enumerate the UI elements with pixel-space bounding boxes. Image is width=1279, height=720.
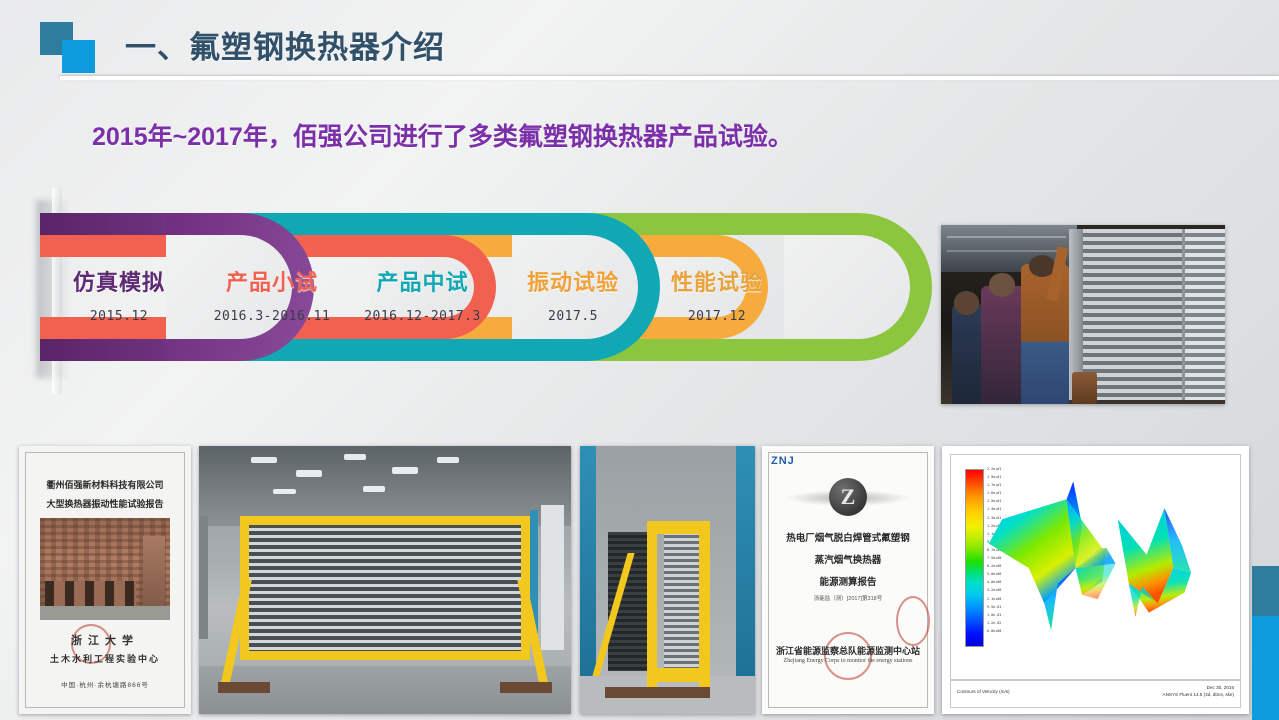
accent-bar-bottom (1252, 616, 1279, 720)
cfd-footer-app: ANSYS Fluent 14.5 (3d, dbns, ske) (1163, 691, 1235, 698)
process-stage-1-date: 2015.12 (54, 309, 184, 324)
process-stage-4-name: 振动试验 (498, 265, 648, 297)
photo-report-vibration: 衢州佰强新材料科技有限公司 大型换热器振动性能试验报告 浙江大学 土木水利工程实… (19, 446, 191, 714)
photo-workshop (941, 225, 1225, 404)
header-square-light-icon (62, 40, 95, 73)
report-energy-line3: 能源测算报告 (762, 574, 934, 588)
process-diagram: 仿真模拟 2015.12 产品小试 2016.3-2016.11 产品中试 20… (40, 213, 932, 361)
process-stage-3-date: 2016.12-2017.3 (340, 309, 505, 324)
process-stage-2-name: 产品小试 (192, 265, 352, 297)
report-vibration-institute: 浙江大学 (19, 632, 191, 648)
process-stage-5-date: 2017.12 (642, 309, 792, 324)
cfd-surface-plot (951, 455, 1240, 679)
process-stage-3: 产品中试 2016.12-2017.3 (340, 265, 505, 324)
report-vibration-address: 中国·杭州·余杭塘路866号 (19, 679, 191, 689)
report-vibration-department: 土木水利工程实验中心 (19, 652, 191, 665)
report-energy-footer-cn: 浙江省能源监察总队能源监测中心站 (762, 644, 934, 657)
report-vibration-company: 衢州佰强新材料科技有限公司 (19, 478, 191, 491)
report-energy-footer-en: Zhejiang Energy Corps to monitor the ene… (762, 658, 934, 664)
process-stage-4: 振动试验 2017.5 (498, 265, 648, 324)
photo-cfd-contour: 2.2e+011.9e+011.7e+011.6e+011.5e+011.4e+… (942, 446, 1249, 714)
photo-report-energy: ZNJ Z 热电厂烟气脱白焊管式氟塑钢 蒸汽烟气换热器 能源测算报告 浙能监（测… (762, 446, 934, 714)
process-stage-2: 产品小试 2016.3-2016.11 (192, 265, 352, 324)
process-stage-1: 仿真模拟 2015.12 (54, 265, 184, 324)
subtitle-text: 2015年~2017年，佰强公司进行了多类氟塑钢换热器产品试验。 (92, 117, 793, 153)
cfd-footer-right: Dec 30, 2016 ANSYS Fluent 14.5 (3d, dbns… (1163, 684, 1235, 698)
cfd-footer-left: Contours of Velocity (m/s) (957, 689, 1010, 694)
report-energy-line1: 热电厂烟气脱白焊管式氟塑钢 (762, 530, 934, 544)
slide: 一、氟塑钢换热器介绍 2015年~2017年，佰强公司进行了多类氟塑钢换热器产品… (0, 0, 1279, 720)
process-stage-2-date: 2016.3-2016.11 (192, 309, 352, 324)
report-energy-medal-icon: Z (829, 478, 867, 516)
report-energy-line2: 蒸汽烟气换热器 (762, 552, 934, 566)
accent-bar-top (1252, 566, 1279, 616)
process-stage-3-name: 产品中试 (340, 265, 505, 297)
process-stage-4-date: 2017.5 (498, 309, 648, 324)
photo-rig-horizontal (199, 446, 571, 714)
process-stage-5: 性能试验 2017.12 (642, 265, 792, 324)
report-vibration-title: 大型换热器振动性能试验报告 (19, 497, 191, 510)
photo-rig-vertical (580, 446, 755, 714)
title-divider (60, 76, 1279, 80)
cfd-footer-date: Dec 30, 2016 (1163, 684, 1235, 691)
process-stage-1-name: 仿真模拟 (54, 265, 184, 297)
cfd-footer: Contours of Velocity (m/s) Dec 30, 2016 … (950, 680, 1241, 708)
cfd-plot-area: 2.2e+011.9e+011.7e+011.6e+011.5e+011.4e+… (950, 454, 1241, 680)
process-stage-5-name: 性能试验 (642, 265, 792, 297)
report-energy-logo: ZNJ (771, 455, 795, 467)
page-title: 一、氟塑钢换热器介绍 (125, 22, 445, 67)
